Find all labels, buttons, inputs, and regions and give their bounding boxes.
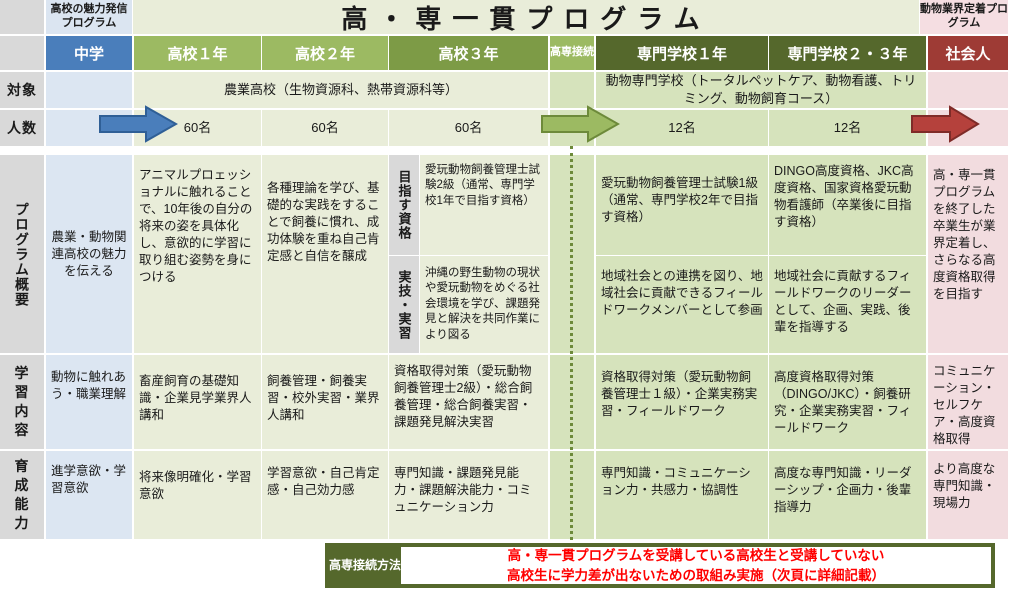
title-band-spacer [0,0,44,34]
headcount-voc1: 12名 [596,110,768,146]
target-bridge-cell [550,72,594,108]
main-title-text: 高・専一貫プログラム [133,0,919,34]
ability-hs1: 将来像明確化・学習意欲 [134,451,261,539]
content-voc1: 資格取得対策（愛玩動物飼養管理士１級）・企業実務実習・フィールドワーク [596,355,768,449]
stage-label: 高校２年 [295,43,355,64]
overview-hs3-sub-label-practice: 実技・実習 [389,256,419,353]
green-arrow-icon [540,104,620,144]
red-arrow-icon [910,104,980,144]
stage-header-hs2[interactable]: 高校２年 [262,36,388,70]
footer-label: 高専接続方法 [329,547,401,584]
right-corner-label: 動物業界定着プログラム [920,0,1008,34]
stage-header-bridge[interactable]: 高専接続 [550,36,594,70]
row-label-ability: 育成能力 [0,451,44,539]
footer-line-1: 高・専一貫プログラムを受講している高校生と受講していない [507,546,885,566]
ability-hs3: 専門知識・課題発見能力・課題解決能力・コミュニケーション力 [389,451,548,539]
target-junior-high-cell [46,72,132,108]
program-chart: 高校の魅力発信プログラム 高・専一貫プログラム 動物業界定着プログラム 中学 高… [0,0,1024,592]
overview-voc23-practice: 地域社会に貢献するフィールドワークのリーダーとして、企画、実践、後輩を指導する [769,256,926,353]
stage-label: 高校１年 [167,43,227,64]
left-corner-label: 高校の魅力発信プログラム [46,0,132,34]
target-high-school: 農業高校（生物資源科、熱帯資源科等） [134,72,548,108]
ability-voc23: 高度な専門知識・リーダーシップ・企画力・後輩指導力 [769,451,926,539]
blue-arrow-icon [98,104,178,144]
overview-adult: 高・専一貫プログラムを終了した卒業生が業界定着し、さらなる高度資格取得を目指す [928,155,1008,353]
row-label-content: 学習内容 [0,355,44,449]
stage-label: 高校３年 [438,43,498,64]
main-title: 高・専一貫プログラム [133,0,919,34]
footer-line-2: 高校生に学力差が出ないための取組み実施（次頁に詳細記載） [507,566,885,586]
stage-label: 中学 [74,43,104,64]
right-corner-label-text: 動物業界定着プログラム [920,3,1008,31]
stage-header-voc23[interactable]: 専門学校２・３年 [769,36,926,70]
stage-header-spacer [0,36,44,70]
overview-voc1-qualification: 愛玩動物飼養管理士試験1級（通常、専門学校2年で目指す資格） [596,155,768,255]
overview-junior-high: 農業・動物関連高校の魅力を伝える [46,155,132,353]
overview-voc1-practice: 地域社会との連携を図り、地域社会に貢献できるフィールドワークメンバーとして参画 [596,256,768,353]
content-adult: コミュニケーション・セルフケア・高度資格取得 [928,355,1008,449]
ability-voc1: 専門知識・コミュニケーション力・共感力・協調性 [596,451,768,539]
stage-label: 専門学校２・３年 [787,43,907,64]
stage-header-adult[interactable]: 社会人 [928,36,1008,70]
target-adult-cell [928,72,1008,108]
overview-hs3-practice: 沖縄の野生動物の現状や愛玩動物をめぐる社会環境を学び、課題発見と解決を共同作業に… [420,256,548,353]
headcount-hs3: 60名 [389,110,548,146]
stage-header-hs1[interactable]: 高校１年 [134,36,261,70]
stage-header-junior-high[interactable]: 中学 [46,36,132,70]
stage-label: 社会人 [945,43,990,64]
overview-hs3-qualification: 愛玩動物飼養管理士試験2級（通常、専門学校1年で目指す資格） [420,155,548,255]
content-voc23: 高度資格取得対策（DINGO/JKC）・飼養研究・企業実務実習・フィールドワーク [769,355,926,449]
stage-label: 高専接続 [550,46,594,59]
left-corner-label-text: 高校の魅力発信プログラム [46,3,132,31]
overview-hs3-sub-label-qualification: 目指す資格 [389,155,419,255]
ability-hs2: 学習意欲・自己肯定感・自己効力感 [262,451,388,539]
bridge-dotted-separator [570,146,573,558]
row-label-target: 対象 [0,72,44,108]
headcount-voc23: 12名 [769,110,926,146]
ability-adult: より高度な専門知識・現場力 [928,451,1008,539]
headcount-hs2: 60名 [262,110,388,146]
row-label-overview: プログラム概要 [0,155,44,353]
content-hs3: 資格取得対策（愛玩動物飼養管理士2級）・総合飼養管理・総合飼養実習・課題発見解決… [389,355,548,449]
footer-banner: 高専接続方法 高・専一貫プログラムを受講している高校生と受講していない 高校生に… [325,543,995,588]
footer-message: 高・専一貫プログラムを受講している高校生と受講していない 高校生に学力差が出ない… [401,547,991,584]
row-label-headcount: 人数 [0,110,44,146]
stage-header-hs3[interactable]: 高校３年 [389,36,548,70]
ability-junior-high: 進学意欲・学習意欲 [46,451,132,539]
stage-label: 専門学校１年 [637,43,727,64]
overview-hs2: 各種理論を学び、基礎的な実践をすることで飼養に慣れ、成功体験を重ね自己肯定感と自… [262,155,388,353]
content-junior-high: 動物に触れあう・職業理解 [46,355,132,449]
content-hs2: 飼養管理・飼養実習・校外実習・業界人講和 [262,355,388,449]
content-hs1: 畜産飼育の基礎知識・企業見学業界人講和 [134,355,261,449]
overview-voc23-qualification: DINGO高度資格、JKC高度資格、国家資格愛玩動物看護師（卒業後に目指す資格） [769,155,926,255]
stage-header-voc1[interactable]: 専門学校１年 [596,36,768,70]
overview-hs1: アニマルプロェッショナルに触れることで、10年後の自分の将来の姿を具体化し、意欲… [134,155,261,353]
target-vocational: 動物専門学校（トータルペットケア、動物看護、トリミング、動物飼育コース） [596,72,926,108]
